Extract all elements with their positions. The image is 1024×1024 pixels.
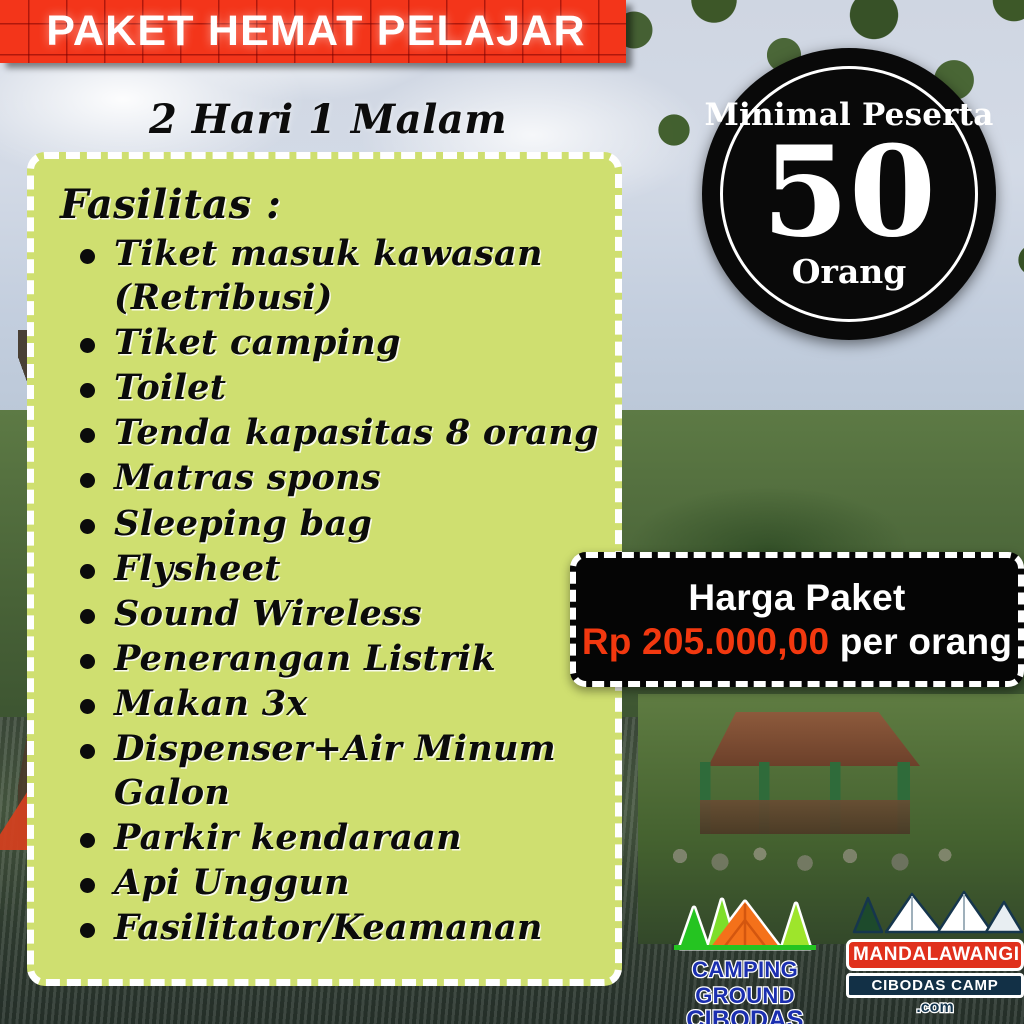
badge-bottom-label: Orang [792, 252, 907, 291]
list-item: Penerangan Listrik [114, 637, 599, 681]
tent-and-trees-icon [650, 890, 840, 952]
mandalawangi-domain: .com [846, 999, 1024, 1017]
list-item: Tiket masuk kawasan (Retribusi) [114, 232, 599, 320]
camping-ground-subtitle: CIBODAS [650, 1006, 840, 1024]
stone-embankment [660, 838, 990, 878]
list-item: Sound Wireless [114, 592, 599, 636]
list-item: Dispenser+Air Minum Galon [114, 727, 599, 815]
mandalawangi-tagline: CIBODAS CAMP [846, 973, 1024, 998]
list-item: Api Unggun [114, 861, 599, 905]
list-item: Tiket camping [114, 321, 599, 365]
promo-poster: PAKET HEMAT PELAJAR 2 Hari 1 Malam Fasil… [0, 0, 1024, 1024]
list-item: Matras spons [114, 456, 599, 500]
list-item: Sleeping bag [114, 502, 599, 546]
list-item: Tenda kapasitas 8 orang [114, 411, 599, 455]
price-amount: Rp 205.000,00 [582, 621, 829, 662]
logo-group: CAMPING GROUND CIBODAS MANDALAWANGI CIBO… [650, 888, 1024, 1008]
price-label: Harga Paket [688, 577, 905, 619]
white-tents-icon [846, 888, 1024, 934]
facilities-heading: Fasilitas : [60, 181, 599, 228]
list-item: Fasilitator/Keamanan [114, 906, 599, 950]
camping-ground-title: CAMPING GROUND [650, 957, 840, 1009]
facilities-list: Tiket masuk kawasan (Retribusi) Tiket ca… [114, 232, 599, 951]
header-banner: PAKET HEMAT PELAJAR [0, 0, 626, 63]
price-unit: per orang [829, 621, 1012, 662]
list-item: Parkir kendaraan [114, 816, 599, 860]
list-item: Flysheet [114, 547, 599, 591]
mandalawangi-name: MANDALAWANGI [846, 939, 1024, 971]
page-title: PAKET HEMAT PELAJAR [40, 7, 586, 56]
price-line: Rp 205.000,00 per orang [582, 621, 1012, 663]
camping-ground-cibodas-logo: CAMPING GROUND CIBODAS [650, 890, 840, 1000]
facilities-panel: Fasilitas : Tiket masuk kawasan (Retribu… [27, 152, 622, 986]
price-box: Harga Paket Rp 205.000,00 per orang [570, 552, 1024, 687]
badge-number: 50 [762, 135, 936, 250]
list-item: Makan 3x [114, 682, 599, 726]
minimum-participants-badge: Minimal Peserta 50 Orang [702, 48, 996, 340]
duration-subtitle: 2 Hari 1 Malam [30, 96, 626, 143]
gazebo-wall [700, 800, 910, 834]
list-item: Toilet [114, 366, 599, 410]
mandalawangi-logo: MANDALAWANGI CIBODAS CAMP .com [846, 888, 1024, 1004]
